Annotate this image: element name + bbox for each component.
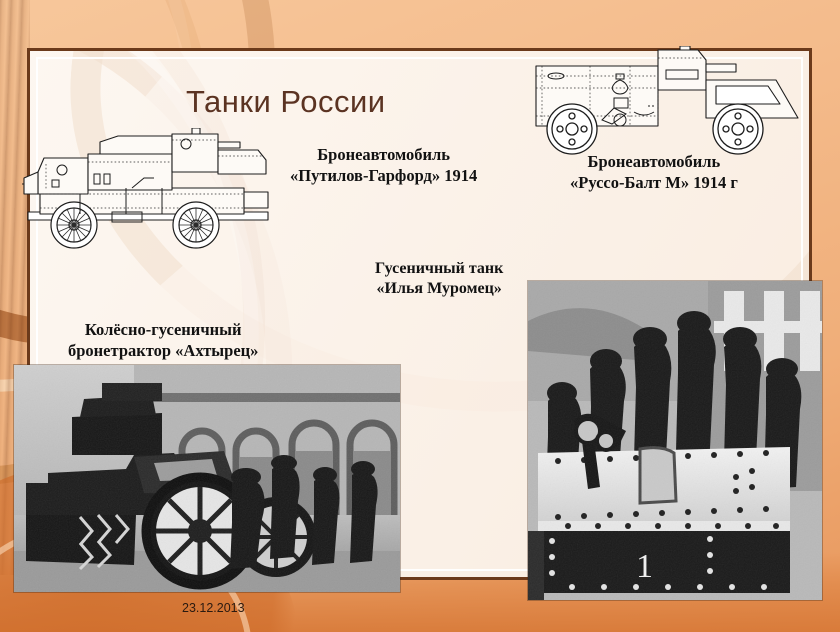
photo-akhtyrets [14, 365, 400, 592]
caption-akhtyrets-line1: Колёсно-гусеничный [85, 320, 242, 339]
caption-muromets: Гусеничный танк «Илья Муромец» [375, 259, 503, 299]
caption-akhtyrets-line2: бронетрактор «Ахтырец» [68, 341, 258, 362]
slide-canvas: Танки России [0, 0, 840, 632]
caption-akhtyrets: Колёсно-гусеничный бронетрактор «Ахтырец… [68, 320, 258, 361]
caption-muromets-line1: Гусеничный танк [375, 260, 503, 277]
caption-russobalt: Бронеавтомобиль «Руссо-Балт М» 1914 г [570, 152, 738, 193]
russo-balt-drawing [530, 46, 805, 163]
caption-russobalt-line2: «Руссо-Балт М» 1914 г [570, 173, 738, 194]
caption-russobalt-line1: Бронеавтомобиль [588, 152, 721, 171]
putilov-garford-drawing [22, 128, 274, 255]
page-title: Танки России [186, 84, 386, 120]
caption-garford-line1: Бронеавтомобиль [317, 145, 450, 164]
photo-muromets: 1 [528, 281, 822, 600]
caption-muromets-line2: «Илья Муромец» [375, 279, 503, 299]
date-label: 23.12.2013 [182, 601, 245, 615]
caption-garford-line2: «Путилов-Гарфорд» 1914 [290, 166, 477, 187]
caption-garford: Бронеавтомобиль «Путилов-Гарфорд» 1914 [290, 145, 477, 186]
